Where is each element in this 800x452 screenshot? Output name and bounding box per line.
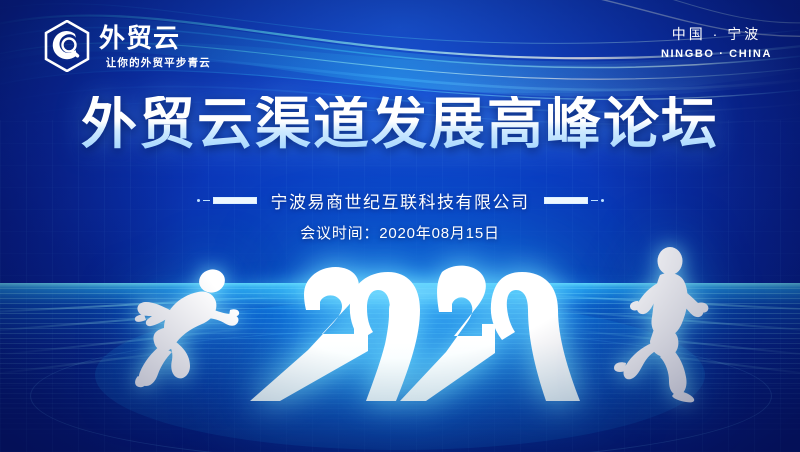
organizer-row: 宁波易商世纪互联科技有限公司 [0, 188, 800, 213]
brand-logo[interactable]: 外贸云 让你的外贸平步青云 [44, 20, 211, 72]
ornament-right-icon [544, 197, 604, 204]
location-en: NINGBO · CHINA [661, 48, 772, 60]
page-title: 外贸云渠道发展高峰论坛 [0, 96, 800, 152]
hexagon-magnifier-icon [44, 20, 90, 72]
brand-text: 外贸云 让你的外贸平步青云 [99, 23, 211, 70]
organizer-name: 宁波易商世纪互联科技有限公司 [271, 188, 530, 213]
brand-name-text: 外贸云 [99, 24, 180, 53]
brand-tagline: 让你的外贸平步青云 [99, 55, 211, 70]
brand-name: 外贸云 [99, 23, 211, 53]
event-date: 会议时间：2020年08月15日 [0, 222, 800, 243]
location-block: 中国 · 宁波 NINGBO · CHINA [661, 24, 772, 60]
location-cn: 中国 · 宁波 [661, 24, 772, 44]
event-poster: 外贸云 让你的外贸平步青云 中国 · 宁波 NINGBO · CHINA 外贸云… [0, 0, 800, 452]
ornament-left-icon [197, 197, 257, 204]
